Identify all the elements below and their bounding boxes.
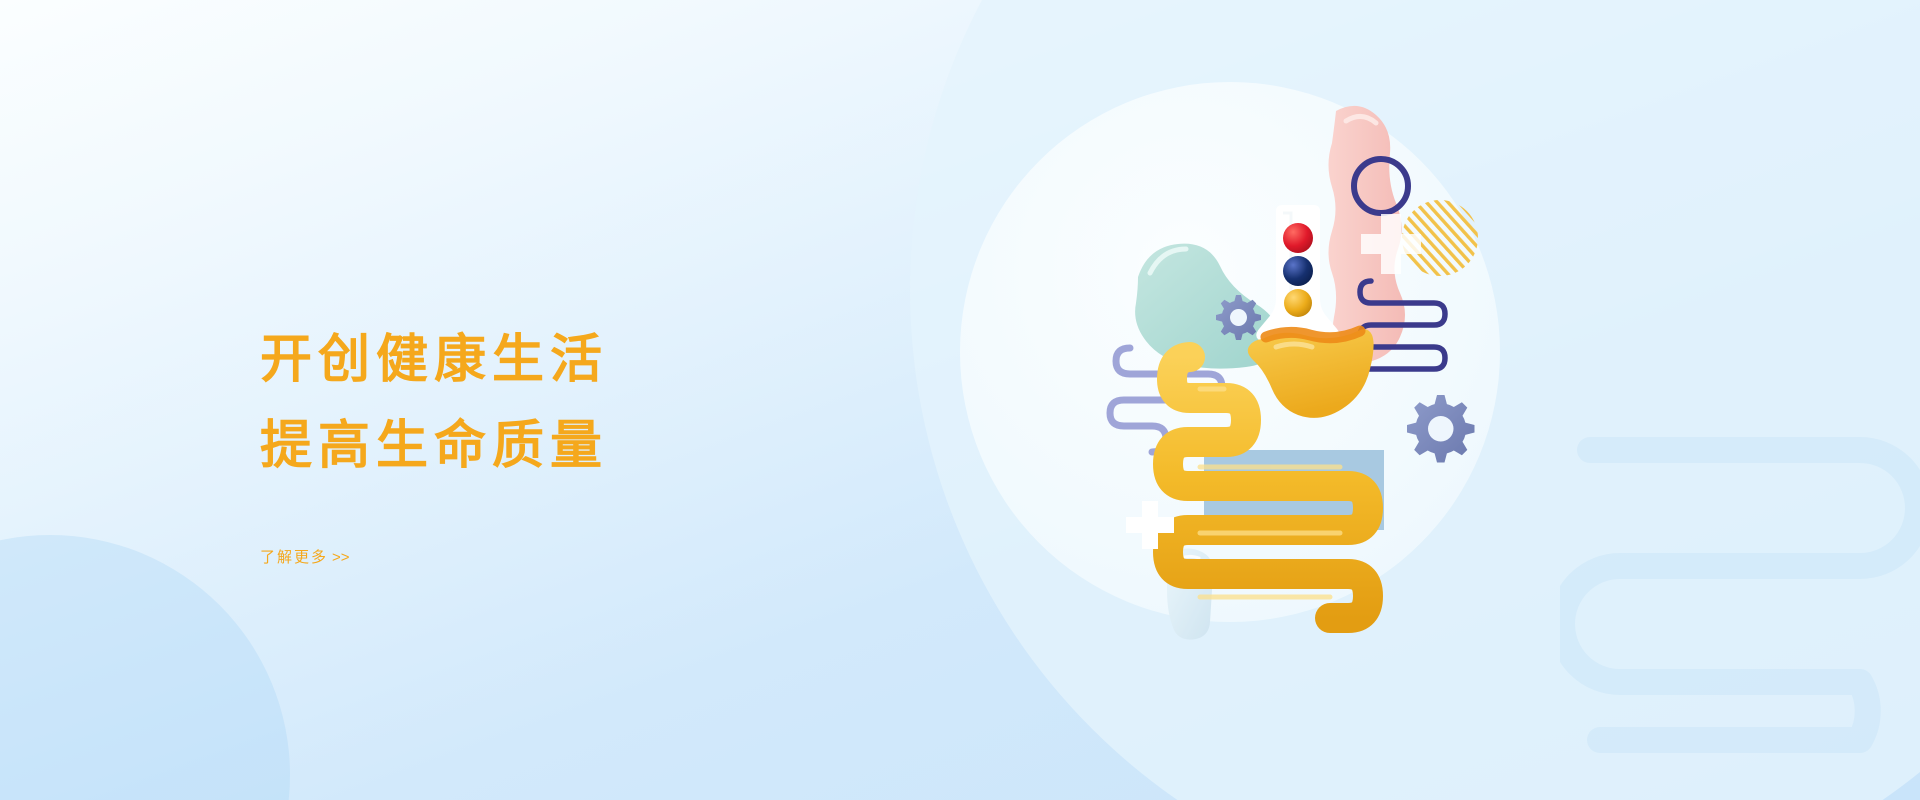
gear-icon-large xyxy=(1407,395,1475,463)
page-title-line-1: 开创健康生活 xyxy=(260,318,880,402)
learn-more-label: 了解更多 xyxy=(260,549,328,566)
flask-vial xyxy=(1256,205,1339,342)
background-blob-bottom-left xyxy=(0,535,290,800)
vial-dot-navy xyxy=(1283,256,1313,286)
gear-icon-small xyxy=(1216,295,1261,340)
page-title-line-2: 提高生命质量 xyxy=(260,404,880,488)
vial-dot-red xyxy=(1283,223,1313,253)
vial-dot-amber xyxy=(1284,289,1312,317)
digestive-system-illustration xyxy=(1080,95,1510,625)
chevron-right-icon: >> xyxy=(332,549,350,566)
learn-more-link[interactable]: 了解更多>> xyxy=(260,546,350,567)
stomach-organ xyxy=(1248,329,1374,418)
hero-copy: 开创健康生活 提高生命质量 了解更多>> xyxy=(260,318,880,567)
hero-banner: 开创健康生活 提高生命质量 了解更多>> xyxy=(0,0,1920,800)
background-watermark-intestine xyxy=(1560,430,1920,760)
